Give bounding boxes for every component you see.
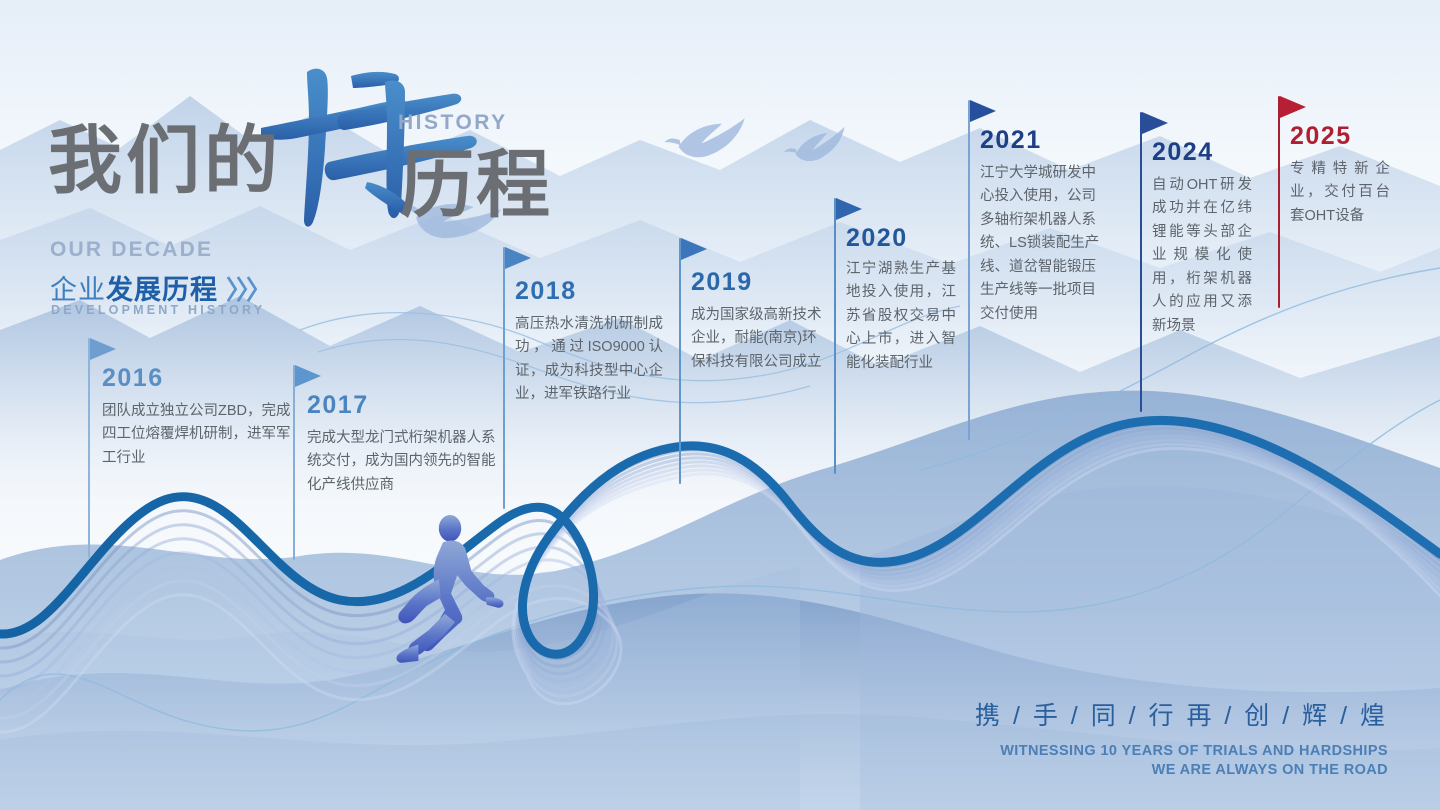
timeline-year: 2021 <box>980 128 1042 153</box>
timeline-description: 自动OHT研发成功并在亿纬锂能等头部企业规模化使用，桁架机器人的应用又添新场景 <box>1152 174 1252 338</box>
flag-pole <box>1278 96 1280 308</box>
history-en-label: HISTORY <box>398 111 508 135</box>
subtitle-cn-light: 企业 <box>50 275 106 305</box>
flag-icon <box>505 247 531 269</box>
timeline-item-2021[interactable]: 2021 江宁大学城研发中心投入使用，公司多轴桁架机器人系统、LS锁装配生产线、… <box>968 100 1108 440</box>
page-title: 我们的 <box>48 124 282 198</box>
timeline-year: 2017 <box>307 393 369 418</box>
timeline-description: 成为国家级高新技术企业，耐能(南京)环保科技有限公司成立 <box>691 304 825 374</box>
flag-icon <box>970 100 996 122</box>
timeline-year: 2024 <box>1152 140 1214 165</box>
flag-icon <box>836 198 862 220</box>
timeline-item-2025[interactable]: 2025 专精特新企业，交付百台套OHT设备 <box>1278 96 1396 308</box>
flag-icon <box>90 338 116 360</box>
development-history-label: DEVELOPMENT HISTORY <box>51 303 265 317</box>
timeline-item-2018[interactable]: 2018 高压热水清洗机研制成功，通过ISO9000认证，成为科技型中心企业，进… <box>503 247 671 509</box>
timeline-year: 2018 <box>515 279 577 304</box>
timeline-item-2020[interactable]: 2020 江宁湖熟生产基地投入使用，江苏省股权交易中心上市，进入智能化装配行业 <box>834 198 964 474</box>
timeline-year: 2025 <box>1290 124 1352 149</box>
flag-pole <box>503 247 505 509</box>
subtitle-cn-bold: 发展历程 <box>106 275 218 305</box>
timeline-year: 2020 <box>846 226 908 251</box>
flag-icon <box>1280 96 1306 118</box>
timeline-description: 专精特新企业，交付百台套OHT设备 <box>1290 158 1390 228</box>
slogan-cn: 携 / 手 / 同 / 行 再 / 创 / 辉 / 煌 <box>975 696 1388 732</box>
flag-icon <box>295 365 321 387</box>
slogan-en-line2: WE ARE ALWAYS ON THE ROAD <box>975 762 1388 778</box>
timeline-item-2017[interactable]: 2017 完成大型龙门式桁架机器人系统交付，成为国内领先的智能化产线供应商 <box>293 365 508 560</box>
flag-icon <box>1142 112 1168 134</box>
timeline-item-2016[interactable]: 2016 团队成立独立公司ZBD，完成四工位熔覆焊机研制，进军军工行业 <box>88 338 303 558</box>
page-title-tail: 历程 <box>400 148 552 222</box>
poster-canvas: 我们的 历程 HISTORY OUR DECADE 企业发展历程〉〉〉 DEVE… <box>0 0 1440 810</box>
flag-pole <box>88 338 90 558</box>
flag-pole <box>1140 112 1142 412</box>
timeline-description: 完成大型龙门式桁架机器人系统交付，成为国内领先的智能化产线供应商 <box>307 427 503 497</box>
flag-icon <box>681 238 707 260</box>
timeline-year: 2016 <box>102 366 164 391</box>
timeline-description: 高压热水清洗机研制成功，通过ISO9000认证，成为科技型中心企业，进军铁路行业 <box>515 313 663 407</box>
flag-pole <box>834 198 836 474</box>
flag-pole <box>293 365 295 560</box>
slogan-block: 携 / 手 / 同 / 行 再 / 创 / 辉 / 煌 WITNESSING 1… <box>975 696 1388 778</box>
timeline-description: 江宁大学城研发中心投入使用，公司多轴桁架机器人系统、LS锁装配生产线、道岔智能锻… <box>980 162 1104 326</box>
timeline-year: 2019 <box>691 270 753 295</box>
flag-pole <box>968 100 970 440</box>
timeline-item-2019[interactable]: 2019 成为国家级高新技术企业，耐能(南京)环保科技有限公司成立 <box>679 238 831 484</box>
subtitle-cn: 企业发展历程〉〉〉 <box>50 268 269 307</box>
flag-pole <box>679 238 681 484</box>
timeline-description: 团队成立独立公司ZBD，完成四工位熔覆焊机研制，进军军工行业 <box>102 400 298 470</box>
timeline-description: 江宁湖熟生产基地投入使用，江苏省股权交易中心上市，进入智能化装配行业 <box>846 258 956 375</box>
chevron-right-icon: 〉〉〉 <box>226 270 269 307</box>
slogan-en-line1: WITNESSING 10 YEARS OF TRIALS AND HARDSH… <box>975 743 1388 759</box>
our-decade-label: OUR DECADE <box>50 238 213 262</box>
timeline-item-2024[interactable]: 2024 自动OHT研发成功并在亿纬锂能等头部企业规模化使用，桁架机器人的应用又… <box>1140 112 1258 412</box>
